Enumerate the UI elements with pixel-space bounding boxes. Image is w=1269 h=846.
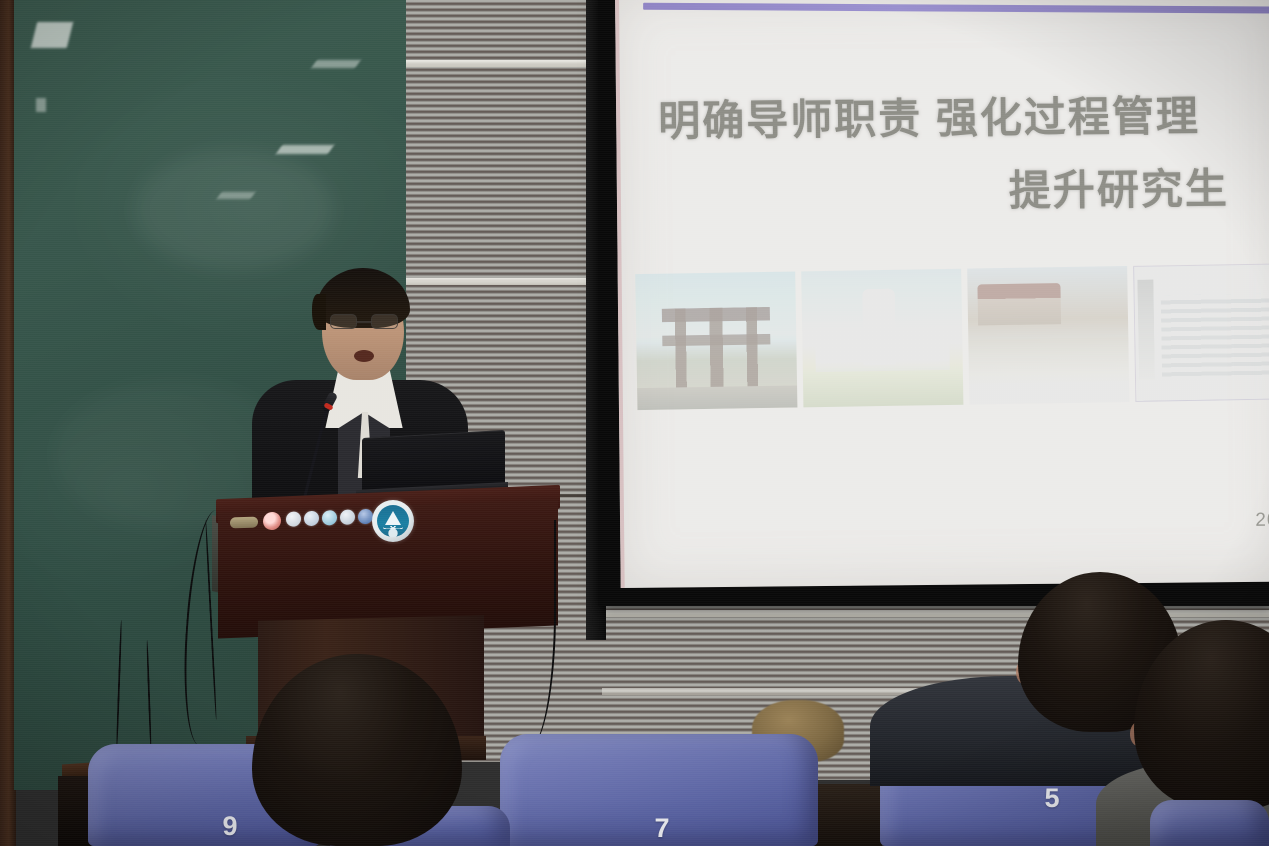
auditorium-chair: 7: [500, 734, 818, 846]
slide-photo-campus-lakeside-pavilion: [967, 266, 1129, 405]
auditorium-chair-partial: [1150, 800, 1269, 846]
emblem-wave-mark: [383, 526, 403, 532]
seat-number: 7: [654, 813, 669, 844]
wall-metal-band: [406, 60, 602, 67]
board-light-reflection: [276, 145, 334, 154]
projection-screen: 明确导师职责 强化过程管理 提升研究生 201: [615, 0, 1269, 588]
slide-photo-campus-academic-block: [1133, 263, 1269, 402]
presenter-mouth: [354, 350, 374, 362]
podium-button-2[interactable]: [304, 511, 319, 527]
board-light-reflection: [311, 60, 361, 68]
slide-photo-campus-gateway-paifang: [635, 271, 797, 410]
desk-edge-center: [808, 784, 882, 846]
board-light-reflection: [217, 192, 256, 199]
seat-number: 9: [222, 811, 237, 842]
podium-button-5[interactable]: [358, 509, 373, 525]
chalk-smudge: [134, 150, 334, 270]
university-emblem-icon: [372, 500, 414, 542]
eyeglasses-icon: [330, 314, 398, 329]
podium-button-3[interactable]: [322, 510, 337, 526]
slide-photo-campus-main-tower-building: [801, 269, 963, 408]
lecture-hall-photo: 明确导师职责 强化过程管理 提升研究生 201: [0, 0, 1269, 846]
podium-button-1[interactable]: [286, 511, 301, 527]
seat-number: 5: [1044, 783, 1059, 814]
slide-title-line-1: 明确导师职责 强化过程管理: [658, 82, 1200, 148]
podium-name-plate: [230, 517, 258, 529]
board-light-reflection: [31, 22, 73, 48]
slide-title-line-2: 提升研究生: [1009, 155, 1230, 218]
emblem-triangle-mark: [385, 511, 401, 525]
slide-photo-strip: [635, 263, 1269, 410]
board-light-reflection: [36, 98, 46, 112]
podium-button-4[interactable]: [340, 509, 355, 525]
slide-date: 201: [1255, 510, 1269, 532]
slide-accent-line: [643, 3, 1269, 14]
